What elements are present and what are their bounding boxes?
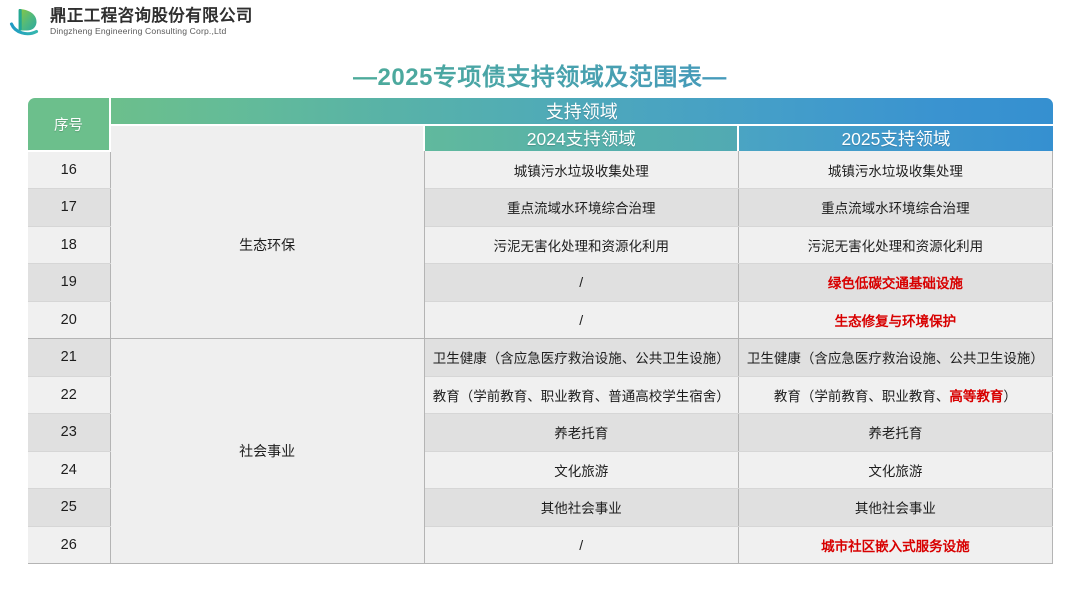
cell-2024-scope: / bbox=[424, 301, 738, 339]
cell-2025-scope: 重点流域水环境综合治理 bbox=[738, 189, 1052, 227]
table-head: 序号 支持领域 2024支持领域 2025支持领域 bbox=[28, 98, 1053, 151]
empty-slash: / bbox=[579, 274, 583, 290]
cell-index: 23 bbox=[28, 414, 110, 452]
scope-text: 卫生健康（含应急医疗救治设施、公共卫生设施） bbox=[747, 351, 1044, 366]
scope-text: 教育（学前教育、职业教育、 bbox=[774, 389, 950, 404]
cell-index: 18 bbox=[28, 226, 110, 264]
table-body: 16生态环保城镇污水垃圾收集处理城镇污水垃圾收集处理17重点流域水环境综合治理重… bbox=[28, 151, 1053, 564]
table-row: 21社会事业卫生健康（含应急医疗救治设施、公共卫生设施）卫生健康（含应急医疗救治… bbox=[28, 339, 1053, 377]
page-title: —2025专项债支持领域及范围表— bbox=[0, 57, 1080, 92]
scope-text: ） bbox=[1003, 389, 1017, 404]
brand-header: 鼎正工程咨询股份有限公司 Dingzheng Engineering Consu… bbox=[0, 0, 262, 44]
cell-index: 25 bbox=[28, 489, 110, 527]
empty-slash: / bbox=[579, 537, 583, 553]
header-index: 序号 bbox=[28, 98, 110, 151]
highlighted-new-item: 高等教育 bbox=[949, 389, 1003, 404]
cell-2024-scope: 卫生健康（含应急医疗救治设施、公共卫生设施） bbox=[424, 339, 738, 377]
cell-category: 社会事业 bbox=[110, 339, 424, 564]
scope-text: 城镇污水垃圾收集处理 bbox=[828, 164, 963, 179]
header-category bbox=[110, 125, 424, 151]
cell-2025-scope: 养老托育 bbox=[738, 414, 1052, 452]
cell-category: 生态环保 bbox=[110, 151, 424, 339]
header-row-top: 序号 支持领域 bbox=[28, 98, 1053, 125]
brand-name-cn: 鼎正工程咨询股份有限公司 bbox=[50, 8, 253, 25]
header-support-scope: 支持领域 bbox=[110, 98, 1053, 125]
highlighted-new-item: 生态修复与环境保护 bbox=[835, 314, 957, 329]
scope-text: 其他社会事业 bbox=[855, 501, 936, 516]
dingzheng-d-logo-icon bbox=[8, 5, 42, 39]
cell-2024-scope: 重点流域水环境综合治理 bbox=[424, 189, 738, 227]
cell-index: 16 bbox=[28, 151, 110, 189]
cell-index: 17 bbox=[28, 189, 110, 227]
cell-2025-scope: 生态修复与环境保护 bbox=[738, 301, 1052, 339]
scope-text: 重点流域水环境综合治理 bbox=[821, 201, 970, 216]
scope-text: 养老托育 bbox=[868, 426, 922, 441]
cell-2024-scope: 其他社会事业 bbox=[424, 489, 738, 527]
support-scope-table: 序号 支持领域 2024支持领域 2025支持领域 16生态环保城镇污水垃圾收集… bbox=[28, 98, 1053, 564]
highlighted-new-item: 城市社区嵌入式服务设施 bbox=[821, 539, 970, 554]
cell-2024-scope: 城镇污水垃圾收集处理 bbox=[424, 151, 738, 189]
scope-text: 污泥无害化处理和资源化利用 bbox=[808, 239, 984, 254]
cell-2025-scope: 文化旅游 bbox=[738, 451, 1052, 489]
cell-2024-scope: / bbox=[424, 264, 738, 302]
cell-2025-scope: 其他社会事业 bbox=[738, 489, 1052, 527]
table-row: 16生态环保城镇污水垃圾收集处理城镇污水垃圾收集处理 bbox=[28, 151, 1053, 189]
cell-2024-scope: 养老托育 bbox=[424, 414, 738, 452]
cell-2024-scope: 文化旅游 bbox=[424, 451, 738, 489]
cell-index: 24 bbox=[28, 451, 110, 489]
header-row-bottom: 2024支持领域 2025支持领域 bbox=[28, 125, 1053, 151]
cell-2025-scope: 城镇污水垃圾收集处理 bbox=[738, 151, 1052, 189]
cell-2025-scope: 教育（学前教育、职业教育、高等教育） bbox=[738, 376, 1052, 414]
cell-2024-scope: 教育（学前教育、职业教育、普通高校学生宿舍） bbox=[424, 376, 738, 414]
cell-index: 19 bbox=[28, 264, 110, 302]
cell-index: 26 bbox=[28, 526, 110, 564]
cell-index: 20 bbox=[28, 301, 110, 339]
cell-index: 22 bbox=[28, 376, 110, 414]
cell-2025-scope: 污泥无害化处理和资源化利用 bbox=[738, 226, 1052, 264]
highlighted-new-item: 绿色低碳交通基础设施 bbox=[828, 276, 963, 291]
empty-slash: / bbox=[579, 312, 583, 328]
cell-2024-scope: / bbox=[424, 526, 738, 564]
scope-text: 文化旅游 bbox=[868, 464, 922, 479]
header-2025: 2025支持领域 bbox=[738, 125, 1052, 151]
brand-name-en: Dingzheng Engineering Consulting Corp.,L… bbox=[50, 27, 253, 36]
cell-2025-scope: 卫生健康（含应急医疗救治设施、公共卫生设施） bbox=[738, 339, 1052, 377]
cell-2025-scope: 城市社区嵌入式服务设施 bbox=[738, 526, 1052, 564]
cell-index: 21 bbox=[28, 339, 110, 377]
cell-2024-scope: 污泥无害化处理和资源化利用 bbox=[424, 226, 738, 264]
cell-2025-scope: 绿色低碳交通基础设施 bbox=[738, 264, 1052, 302]
header-2024: 2024支持领域 bbox=[424, 125, 738, 151]
support-scope-table-wrapper: 序号 支持领域 2024支持领域 2025支持领域 16生态环保城镇污水垃圾收集… bbox=[28, 98, 1053, 564]
